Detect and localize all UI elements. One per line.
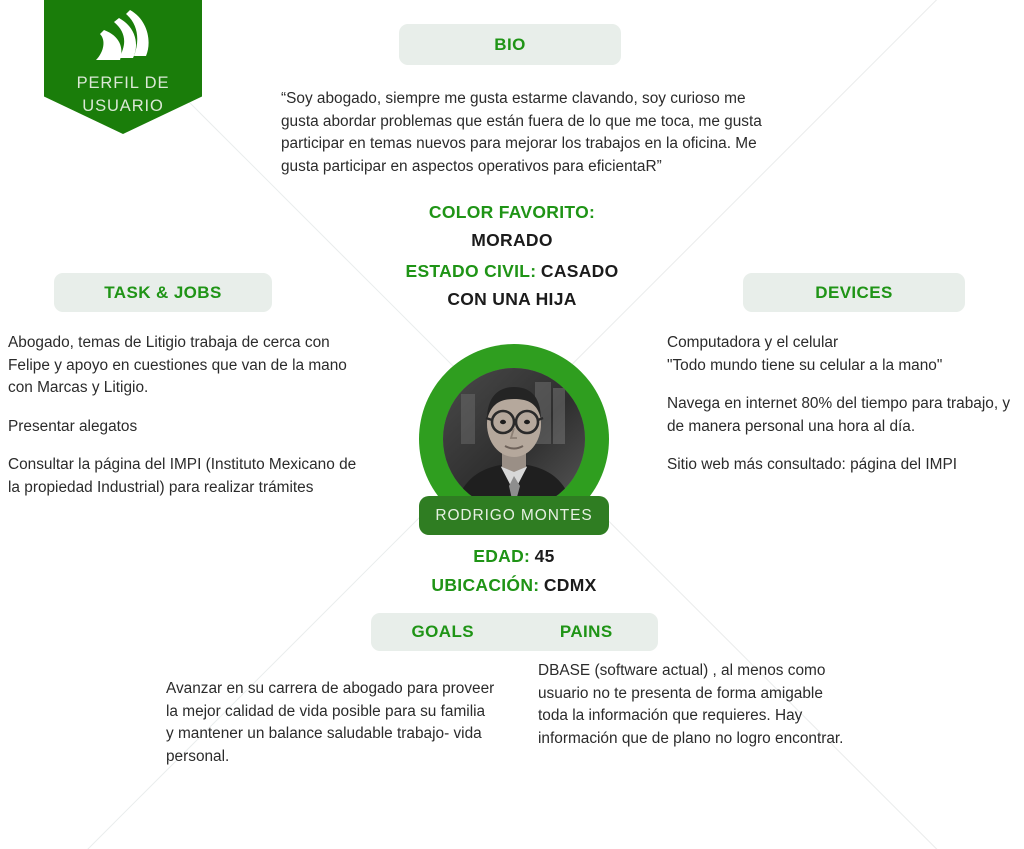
section-header-task-jobs: TASK & JOBS: [54, 273, 272, 312]
ribbon-title-line2: USUARIO: [44, 95, 202, 118]
favorite-color-value: MORADO: [471, 230, 553, 250]
marital-status-block: ESTADO CIVIL: CASADO CON UNA HIJA: [362, 258, 662, 314]
devices-content: Computadora y el celular "Todo mundo tie…: [667, 332, 1017, 477]
section-header-goals-pains: GOALS PAINS: [371, 613, 658, 651]
user-persona-infographic: PERFIL DE USUARIO BIO “Soy abogado, siem…: [0, 0, 1024, 849]
portrait-illustration: [443, 368, 585, 510]
bio-quote-text: “Soy abogado, siempre me gusta estarme c…: [281, 88, 767, 178]
age-label: EDAD:: [473, 546, 530, 566]
devices-paragraph: Computadora y el celular "Todo mundo tie…: [667, 332, 1017, 377]
pains-content: DBASE (software actual) , al menos como …: [538, 660, 848, 750]
ribbon-title-line1: PERFIL DE: [44, 72, 202, 95]
marital-status-label: ESTADO CIVIL:: [405, 261, 536, 281]
marital-status-value-line2: CON UNA HIJA: [447, 289, 576, 309]
favorite-color-block: COLOR FAVORITO: MORADO: [362, 199, 662, 255]
swoosh-logo: [86, 8, 160, 70]
location-label: UBICACIÓN:: [431, 575, 539, 595]
location-block: UBICACIÓN: CDMX: [364, 572, 664, 600]
bio-quote: “Soy abogado, siempre me gusta estarme c…: [281, 88, 767, 178]
section-header-devices: DEVICES: [743, 273, 965, 312]
section-header-bio: BIO: [399, 24, 621, 65]
age-value: 45: [535, 546, 555, 566]
location-value: CDMX: [544, 575, 597, 595]
profile-name-badge: RODRIGO MONTES: [419, 496, 609, 535]
task-jobs-paragraph: Abogado, temas de Litigio trabaja de cer…: [8, 332, 363, 400]
task-jobs-content: Abogado, temas de Litigio trabaja de cer…: [8, 332, 363, 499]
task-jobs-paragraph: Presentar alegatos: [8, 416, 363, 439]
goals-content: Avanzar en su carrera de abogado para pr…: [166, 678, 496, 768]
devices-paragraph: Sitio web más consultado: página del IMP…: [667, 454, 1017, 477]
section-header-pains: PAINS: [515, 622, 659, 642]
task-jobs-paragraph: Consultar la página del IMPI (Instituto …: [8, 454, 363, 499]
section-header-goals: GOALS: [371, 622, 515, 642]
favorite-color-label: COLOR FAVORITO:: [429, 202, 595, 222]
devices-paragraph: Navega en internet 80% del tiempo para t…: [667, 393, 1017, 438]
goals-paragraph: Avanzar en su carrera de abogado para pr…: [166, 678, 496, 768]
profile-ribbon-banner: PERFIL DE USUARIO: [44, 0, 202, 134]
age-block: EDAD: 45: [364, 543, 664, 571]
pains-paragraph: DBASE (software actual) , al menos como …: [538, 660, 848, 750]
user-portrait: [443, 368, 585, 510]
ribbon-title: PERFIL DE USUARIO: [44, 72, 202, 118]
marital-status-value: CASADO: [541, 261, 619, 281]
